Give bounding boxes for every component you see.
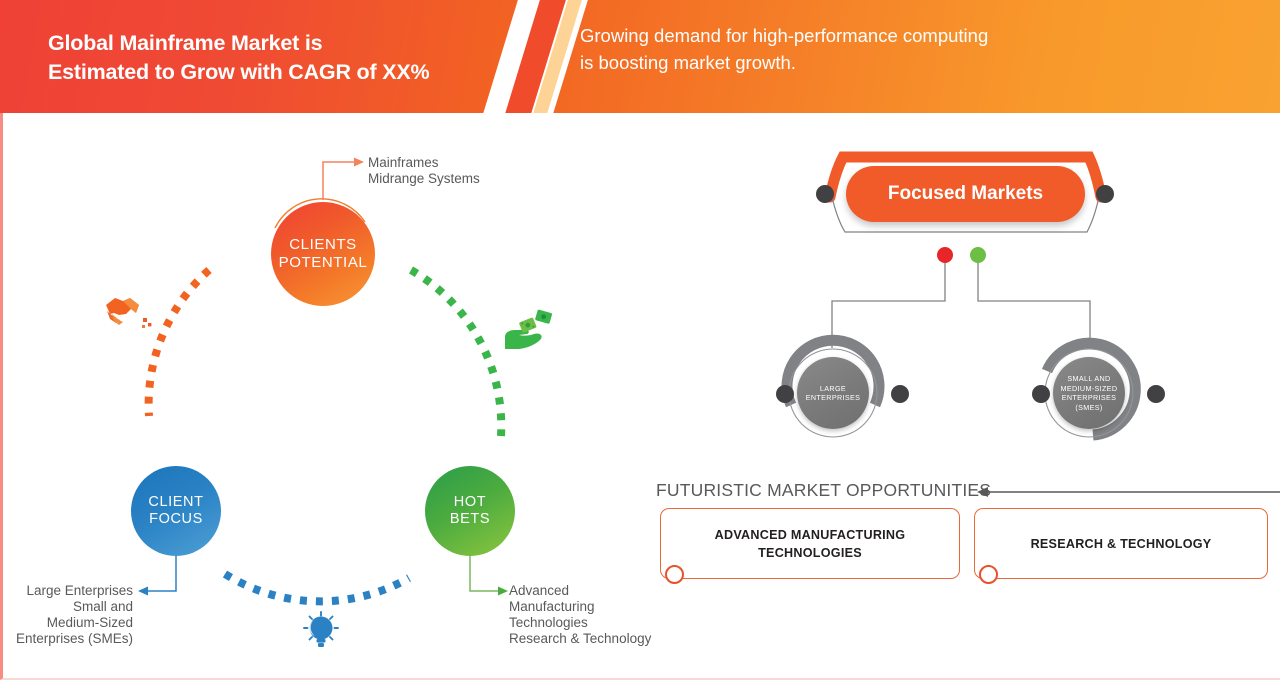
opportunity-box-advanced-manufacturing-label: ADVANCED MANUFACTURING TECHNOLOGIES	[715, 526, 906, 562]
page-subtitle: Growing demand for high-performance comp…	[580, 22, 1140, 76]
page-title-line1: Global Mainframe Market is	[48, 29, 528, 58]
infographic-page: Global Mainframe Market is Estimated to …	[0, 0, 1280, 680]
node-client-focus-line1: CLIENT	[148, 494, 203, 511]
focused-markets-left-dot	[816, 185, 834, 203]
callout-client-focus: Large Enterprises Small and Medium-Sized…	[3, 583, 133, 647]
focused-markets-label: Focused Markets	[888, 183, 1043, 205]
opportunity-marker-research-technology	[979, 565, 998, 584]
focused-markets-connector-tree	[832, 258, 1090, 348]
lightbulb-icon	[304, 612, 338, 647]
page-subtitle-line2: is boosting market growth.	[580, 49, 1140, 76]
node-clients-potential-line1: CLIENTS	[279, 236, 368, 254]
opportunity-box-advanced-manufacturing[interactable]: ADVANCED MANUFACTURING TECHNOLOGIES	[660, 508, 960, 579]
leader-line-hot-bets	[470, 556, 508, 596]
dotted-arc-orange	[149, 270, 209, 416]
node-hot-bets-line2: BETS	[450, 511, 490, 528]
segment-large-enterprises[interactable]: LARGE ENTERPRISES	[797, 357, 869, 429]
dotted-arc-blue	[225, 574, 409, 601]
callout-hot-bets: Advanced Manufacturing Technologies Rese…	[509, 583, 694, 647]
red-connector-dot	[937, 247, 953, 263]
node-clients-potential-line2: POTENTIAL	[279, 254, 368, 272]
handshake-icon	[106, 298, 151, 328]
leader-line-clients-potential	[323, 158, 364, 201]
page-title-line2: Estimated to Grow with CAGR of XX%	[48, 58, 528, 87]
focused-markets-pill[interactable]: Focused Markets	[846, 166, 1085, 222]
node-client-focus-line2: FOCUS	[148, 511, 203, 528]
page-subtitle-line1: Growing demand for high-performance comp…	[580, 22, 1140, 49]
leader-line-client-focus	[138, 556, 176, 596]
node-hot-bets[interactable]: HOT BETS	[425, 466, 515, 556]
opportunity-box-research-technology-label: RESEARCH & TECHNOLOGY	[1031, 535, 1212, 553]
segment-smes[interactable]: SMALL AND MEDIUM-SIZED ENTERPRISES (SMES…	[1053, 357, 1125, 429]
opportunity-marker-advanced-manufacturing	[665, 565, 684, 584]
header-banner: Global Mainframe Market is Estimated to …	[0, 0, 1280, 113]
focused-markets-right-dot	[1096, 185, 1114, 203]
money-in-hand-icon	[505, 309, 552, 349]
opportunity-box-research-technology[interactable]: RESEARCH & TECHNOLOGY	[974, 508, 1268, 579]
green-connector-dot	[970, 247, 986, 263]
node-clients-potential[interactable]: CLIENTS POTENTIAL	[271, 202, 375, 306]
page-title: Global Mainframe Market is Estimated to …	[48, 29, 528, 87]
callout-clients-potential: Mainframes Midrange Systems	[368, 155, 568, 187]
futuristic-arrow	[977, 487, 1280, 497]
dotted-arc-green	[411, 270, 501, 436]
node-hot-bets-line1: HOT	[450, 494, 490, 511]
segment-smes-label: SMALL AND MEDIUM-SIZED ENTERPRISES (SMES…	[1061, 374, 1118, 412]
futuristic-section-title: FUTURISTIC MARKET OPPORTUNITIES	[656, 480, 991, 501]
segment-large-enterprises-label: LARGE ENTERPRISES	[806, 384, 861, 403]
node-client-focus[interactable]: CLIENT FOCUS	[131, 466, 221, 556]
